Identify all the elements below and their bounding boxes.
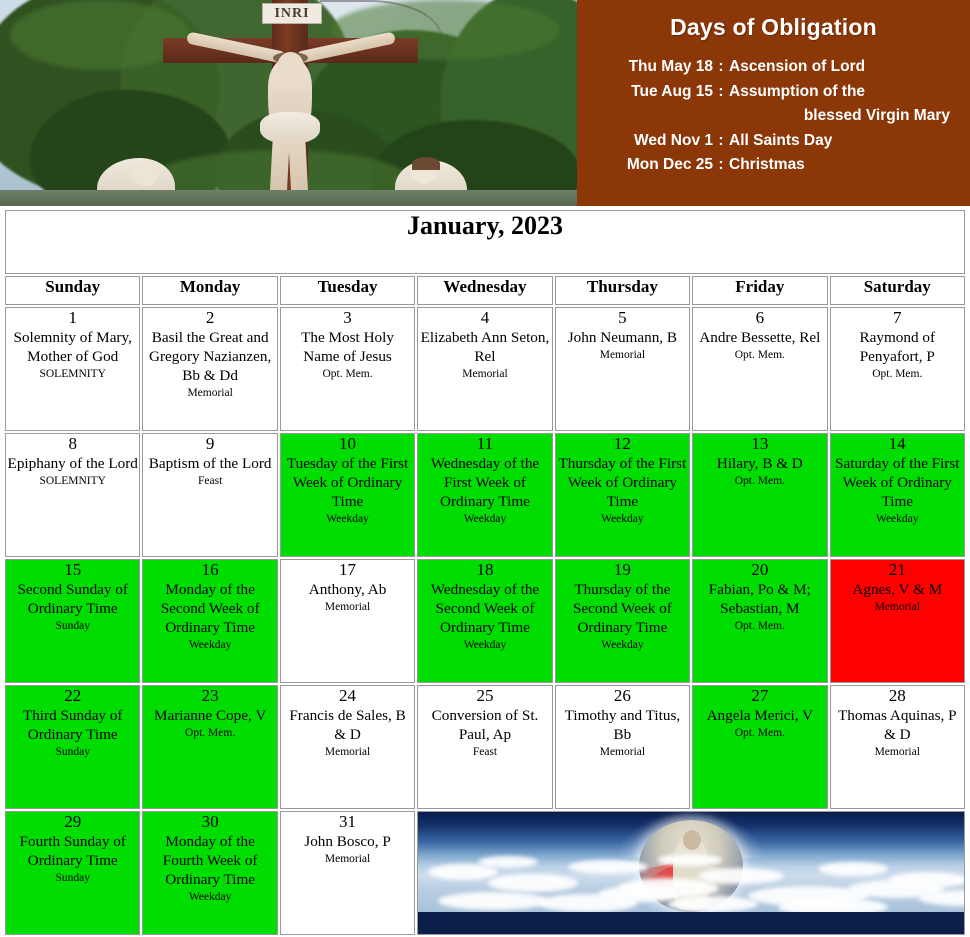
- day-number: 23: [143, 686, 276, 706]
- calendar-day-cell[interactable]: 23Marianne Cope, VOpt. Mem.: [142, 685, 277, 809]
- calendar-day-cell[interactable]: 12Thursday of the First Week of Ordinary…: [555, 433, 690, 557]
- calendar-day-cell[interactable]: 7Raymond of Penyafort, POpt. Mem.: [830, 307, 965, 431]
- day-celebration-name: Thursday of the Second Week of Ordinary …: [556, 580, 689, 637]
- day-rank-label: Opt. Mem.: [693, 474, 826, 489]
- day-number: 13: [693, 434, 826, 454]
- weekday-header-saturday: Saturday: [830, 276, 965, 305]
- weekday-header-row: Sunday Monday Tuesday Wednesday Thursday…: [5, 276, 965, 305]
- cloud-puff: [488, 874, 578, 892]
- obligation-feast-name-continued: blessed Virgin Mary: [605, 104, 956, 129]
- calendar-day-cell[interactable]: 28Thomas Aquinas, P & DMemorial: [830, 685, 965, 809]
- day-number: 30: [143, 812, 276, 832]
- calendar-month-title: January, 2023: [5, 210, 965, 274]
- day-rank-label: Weekday: [556, 512, 689, 527]
- calendar-week-row: 8Epiphany of the LordSOLEMNITY9Baptism o…: [5, 433, 965, 557]
- day-celebration-name: Wednesday of the Second Week of Ordinary…: [418, 580, 551, 637]
- mercy-figure-head: [683, 830, 701, 850]
- day-number: 15: [6, 560, 139, 580]
- day-celebration-name: Monday of the Fourth Week of Ordinary Ti…: [143, 832, 276, 889]
- calendar-day-cell[interactable]: 24Francis de Sales, B & DMemorial: [280, 685, 415, 809]
- calendar-day-cell[interactable]: 5John Neumann, BMemorial: [555, 307, 690, 431]
- clouds-sky-photo: [418, 812, 964, 912]
- calendar-day-cell[interactable]: 31John Bosco, PMemorial: [280, 811, 415, 935]
- day-celebration-name: Andre Bessette, Rel: [693, 328, 826, 347]
- day-rank-label: Weekday: [281, 512, 414, 527]
- calendar-day-cell[interactable]: 17Anthony, AbMemorial: [280, 559, 415, 683]
- cloud-puff: [438, 892, 548, 910]
- cloud-puff: [478, 856, 538, 868]
- cloud-puff: [568, 860, 648, 874]
- calendar-day-cell[interactable]: 29Fourth Sunday of Ordinary TimeSunday: [5, 811, 140, 935]
- day-celebration-name: Epiphany of the Lord: [6, 454, 139, 473]
- calendar-day-cell[interactable]: 19Thursday of the Second Week of Ordinar…: [555, 559, 690, 683]
- day-rank-label: Opt. Mem.: [831, 367, 964, 382]
- day-rank-label: SOLEMNITY: [6, 367, 139, 382]
- calendar-day-cell[interactable]: 2Basil the Great and Gregory Nazianzen, …: [142, 307, 277, 431]
- day-number: 3: [281, 308, 414, 328]
- day-celebration-name: Anthony, Ab: [281, 580, 414, 599]
- day-number: 21: [831, 560, 964, 580]
- days-of-obligation-title: Days of Obligation: [587, 14, 960, 41]
- day-number: 1: [6, 308, 139, 328]
- day-celebration-name: Baptism of the Lord: [143, 454, 276, 473]
- calendar-weeks-body: 1Solemnity of Mary, Mother of GodSOLEMNI…: [5, 307, 965, 935]
- day-number: 9: [143, 434, 276, 454]
- calendar-week-row: 15Second Sunday of Ordinary TimeSunday16…: [5, 559, 965, 683]
- ground-strip: [0, 190, 577, 206]
- day-rank-label: Memorial: [143, 386, 276, 401]
- obligation-feast-name: Assumption of the: [729, 80, 956, 105]
- weekday-header-tuesday: Tuesday: [280, 276, 415, 305]
- days-of-obligation-panel: Days of Obligation Thu May 18 : Ascensio…: [577, 0, 970, 206]
- calendar-day-cell[interactable]: 25Conversion of St. Paul, ApFeast: [417, 685, 552, 809]
- day-number: 25: [418, 686, 551, 706]
- calendar-day-cell[interactable]: 13Hilary, B & DOpt. Mem.: [692, 433, 827, 557]
- calendar-day-cell[interactable]: 1Solemnity of Mary, Mother of GodSOLEMNI…: [5, 307, 140, 431]
- calendar-day-cell[interactable]: 8Epiphany of the LordSOLEMNITY: [5, 433, 140, 557]
- day-number: 10: [281, 434, 414, 454]
- weekday-header-thursday: Thursday: [555, 276, 690, 305]
- day-number: 18: [418, 560, 551, 580]
- day-number: 14: [831, 434, 964, 454]
- day-celebration-name: Raymond of Penyafort, P: [831, 328, 964, 366]
- day-celebration-name: Second Sunday of Ordinary Time: [6, 580, 139, 618]
- day-number: 26: [556, 686, 689, 706]
- crucifix-photo: INRI: [0, 0, 577, 206]
- calendar-day-cell[interactable]: 3The Most Holy Name of JesusOpt. Mem.: [280, 307, 415, 431]
- day-celebration-name: Fabian, Po & M; Sebastian, M: [693, 580, 826, 618]
- day-celebration-name: Basil the Great and Gregory Nazianzen, B…: [143, 328, 276, 385]
- day-celebration-name: Thursday of the First Week of Ordinary T…: [556, 454, 689, 511]
- corpus-head: [277, 52, 304, 82]
- day-rank-label: Weekday: [556, 638, 689, 653]
- obligation-feast-name: All Saints Day: [729, 129, 956, 154]
- day-rank-label: Sunday: [6, 871, 139, 886]
- day-celebration-name: Francis de Sales, B & D: [281, 706, 414, 744]
- day-rank-label: Memorial: [418, 367, 551, 382]
- obligation-date: Mon Dec 25: [605, 153, 713, 178]
- day-number: 11: [418, 434, 551, 454]
- day-celebration-name: Wednesday of the First Week of Ordinary …: [418, 454, 551, 511]
- day-celebration-name: Tuesday of the First Week of Ordinary Ti…: [281, 454, 414, 511]
- weekday-header-monday: Monday: [142, 276, 277, 305]
- day-rank-label: Memorial: [556, 348, 689, 363]
- day-celebration-name: Marianne Cope, V: [143, 706, 276, 725]
- calendar-day-cell[interactable]: 9Baptism of the LordFeast: [142, 433, 277, 557]
- day-rank-label: Feast: [143, 474, 276, 489]
- liturgical-calendar-table: January, 2023 Sunday Monday Tuesday Wedn…: [3, 208, 967, 937]
- day-rank-label: Opt. Mem.: [693, 348, 826, 363]
- day-number: 29: [6, 812, 139, 832]
- cloud-puff: [698, 868, 784, 884]
- obligation-entry: Wed Nov 1 : All Saints Day: [605, 129, 956, 154]
- day-rank-label: Opt. Mem.: [143, 726, 276, 741]
- day-rank-label: SOLEMNITY: [6, 474, 139, 489]
- day-rank-label: Memorial: [831, 745, 964, 760]
- inri-sign: INRI: [262, 3, 322, 24]
- obligation-feast-name: Ascension of Lord: [729, 55, 956, 80]
- day-celebration-name: Saturday of the First Week of Ordinary T…: [831, 454, 964, 511]
- calendar-day-cell[interactable]: 26Timothy and Titus, BbMemorial: [555, 685, 690, 809]
- day-celebration-name: John Bosco, P: [281, 832, 414, 851]
- day-number: 2: [143, 308, 276, 328]
- day-rank-label: Feast: [418, 745, 551, 760]
- calendar-day-cell[interactable]: 18Wednesday of the Second Week of Ordina…: [417, 559, 552, 683]
- calendar-title-row: January, 2023: [5, 210, 965, 274]
- day-rank-label: Weekday: [143, 638, 276, 653]
- cloud-puff: [778, 898, 888, 912]
- day-celebration-name: Agnes, V & M: [831, 580, 964, 599]
- day-rank-label: Opt. Mem.: [693, 619, 826, 634]
- obligation-separator: :: [713, 153, 729, 178]
- day-celebration-name: Fourth Sunday of Ordinary Time: [6, 832, 139, 870]
- day-celebration-name: Elizabeth Ann Seton, Rel: [418, 328, 551, 366]
- calendar-day-cell[interactable]: 15Second Sunday of Ordinary TimeSunday: [5, 559, 140, 683]
- day-celebration-name: Third Sunday of Ordinary Time: [6, 706, 139, 744]
- day-rank-label: Opt. Mem.: [281, 367, 414, 382]
- day-rank-label: Memorial: [556, 745, 689, 760]
- weekday-header-sunday: Sunday: [5, 276, 140, 305]
- day-rank-label: Memorial: [281, 852, 414, 867]
- day-celebration-name: The Most Holy Name of Jesus: [281, 328, 414, 366]
- obligation-entry: Tue Aug 15 : Assumption of the blessed V…: [605, 80, 956, 129]
- day-celebration-name: Angela Merici, V: [693, 706, 826, 725]
- day-rank-label: Weekday: [831, 512, 964, 527]
- cloud-puff: [658, 854, 722, 866]
- day-number: 22: [6, 686, 139, 706]
- obligation-entry: Thu May 18 : Ascension of Lord: [605, 55, 956, 80]
- day-celebration-name: Solemnity of Mary, Mother of God: [6, 328, 139, 366]
- obligation-separator: :: [713, 129, 729, 154]
- cloud-puff: [818, 862, 888, 876]
- calendar-week-row: 22Third Sunday of Ordinary TimeSunday23M…: [5, 685, 965, 809]
- obligation-date: Wed Nov 1: [605, 129, 713, 154]
- calendar-day-cell[interactable]: 21Agnes, V & MMemorial: [830, 559, 965, 683]
- day-rank-label: Sunday: [6, 745, 139, 760]
- calendar-day-cell[interactable]: 22Third Sunday of Ordinary TimeSunday: [5, 685, 140, 809]
- day-number: 7: [831, 308, 964, 328]
- day-number: 24: [281, 686, 414, 706]
- calendar-day-cell[interactable]: 14Saturday of the First Week of Ordinary…: [830, 433, 965, 557]
- day-celebration-name: Conversion of St. Paul, Ap: [418, 706, 551, 744]
- obligation-feast-name: Christmas: [729, 153, 956, 178]
- day-number: 6: [693, 308, 826, 328]
- kneeling-statue-left-head: [133, 160, 159, 186]
- day-number: 28: [831, 686, 964, 706]
- day-number: 20: [693, 560, 826, 580]
- calendar-day-cell[interactable]: 4Elizabeth Ann Seton, RelMemorial: [417, 307, 552, 431]
- day-celebration-name: Timothy and Titus, Bb: [556, 706, 689, 744]
- top-banner: INRI Days of Obligation Thu May 18 : Asc…: [0, 0, 970, 206]
- divine-mercy-clouds-image: [417, 811, 965, 935]
- day-number: 8: [6, 434, 139, 454]
- day-rank-label: Memorial: [281, 745, 414, 760]
- calendar-day-cell[interactable]: 27Angela Merici, VOpt. Mem.: [692, 685, 827, 809]
- cloud-puff: [668, 896, 758, 912]
- days-of-obligation-list: Thu May 18 : Ascension of Lord Tue Aug 1…: [587, 55, 960, 178]
- day-celebration-name: Hilary, B & D: [693, 454, 826, 473]
- calendar-day-cell[interactable]: 30Monday of the Fourth Week of Ordinary …: [142, 811, 277, 935]
- day-rank-label: Memorial: [831, 600, 964, 615]
- calendar-day-cell[interactable]: 20Fabian, Po & M; Sebastian, MOpt. Mem.: [692, 559, 827, 683]
- day-number: 19: [556, 560, 689, 580]
- day-number: 4: [418, 308, 551, 328]
- calendar-day-cell[interactable]: 11Wednesday of the First Week of Ordinar…: [417, 433, 552, 557]
- calendar-week-row: 1Solemnity of Mary, Mother of GodSOLEMNI…: [5, 307, 965, 431]
- obligation-date: Thu May 18: [605, 55, 713, 80]
- day-rank-label: Weekday: [418, 638, 551, 653]
- calendar-day-cell[interactable]: 16Monday of the Second Week of Ordinary …: [142, 559, 277, 683]
- cloud-puff: [888, 872, 964, 888]
- day-number: 27: [693, 686, 826, 706]
- day-celebration-name: Thomas Aquinas, P & D: [831, 706, 964, 744]
- obligation-separator: :: [713, 80, 729, 105]
- calendar-day-cell[interactable]: 6Andre Bessette, RelOpt. Mem.: [692, 307, 827, 431]
- weekday-header-wednesday: Wednesday: [417, 276, 552, 305]
- day-rank-label: Memorial: [281, 600, 414, 615]
- weekday-header-friday: Friday: [692, 276, 827, 305]
- day-rank-label: Sunday: [6, 619, 139, 634]
- day-celebration-name: John Neumann, B: [556, 328, 689, 347]
- obligation-date: Tue Aug 15: [605, 80, 713, 105]
- obligation-separator: :: [713, 55, 729, 80]
- day-number: 5: [556, 308, 689, 328]
- day-number: 17: [281, 560, 414, 580]
- day-rank-label: Weekday: [418, 512, 551, 527]
- day-number: 31: [281, 812, 414, 832]
- calendar-day-cell[interactable]: 10Tuesday of the First Week of Ordinary …: [280, 433, 415, 557]
- day-rank-label: Opt. Mem.: [693, 726, 826, 741]
- day-celebration-name: Monday of the Second Week of Ordinary Ti…: [143, 580, 276, 637]
- calendar-week-row: 29Fourth Sunday of Ordinary TimeSunday30…: [5, 811, 965, 935]
- kneeling-statue-right-hair: [412, 157, 440, 170]
- obligation-entry: Mon Dec 25 : Christmas: [605, 153, 956, 178]
- day-rank-label: Weekday: [143, 890, 276, 905]
- day-number: 16: [143, 560, 276, 580]
- day-number: 12: [556, 434, 689, 454]
